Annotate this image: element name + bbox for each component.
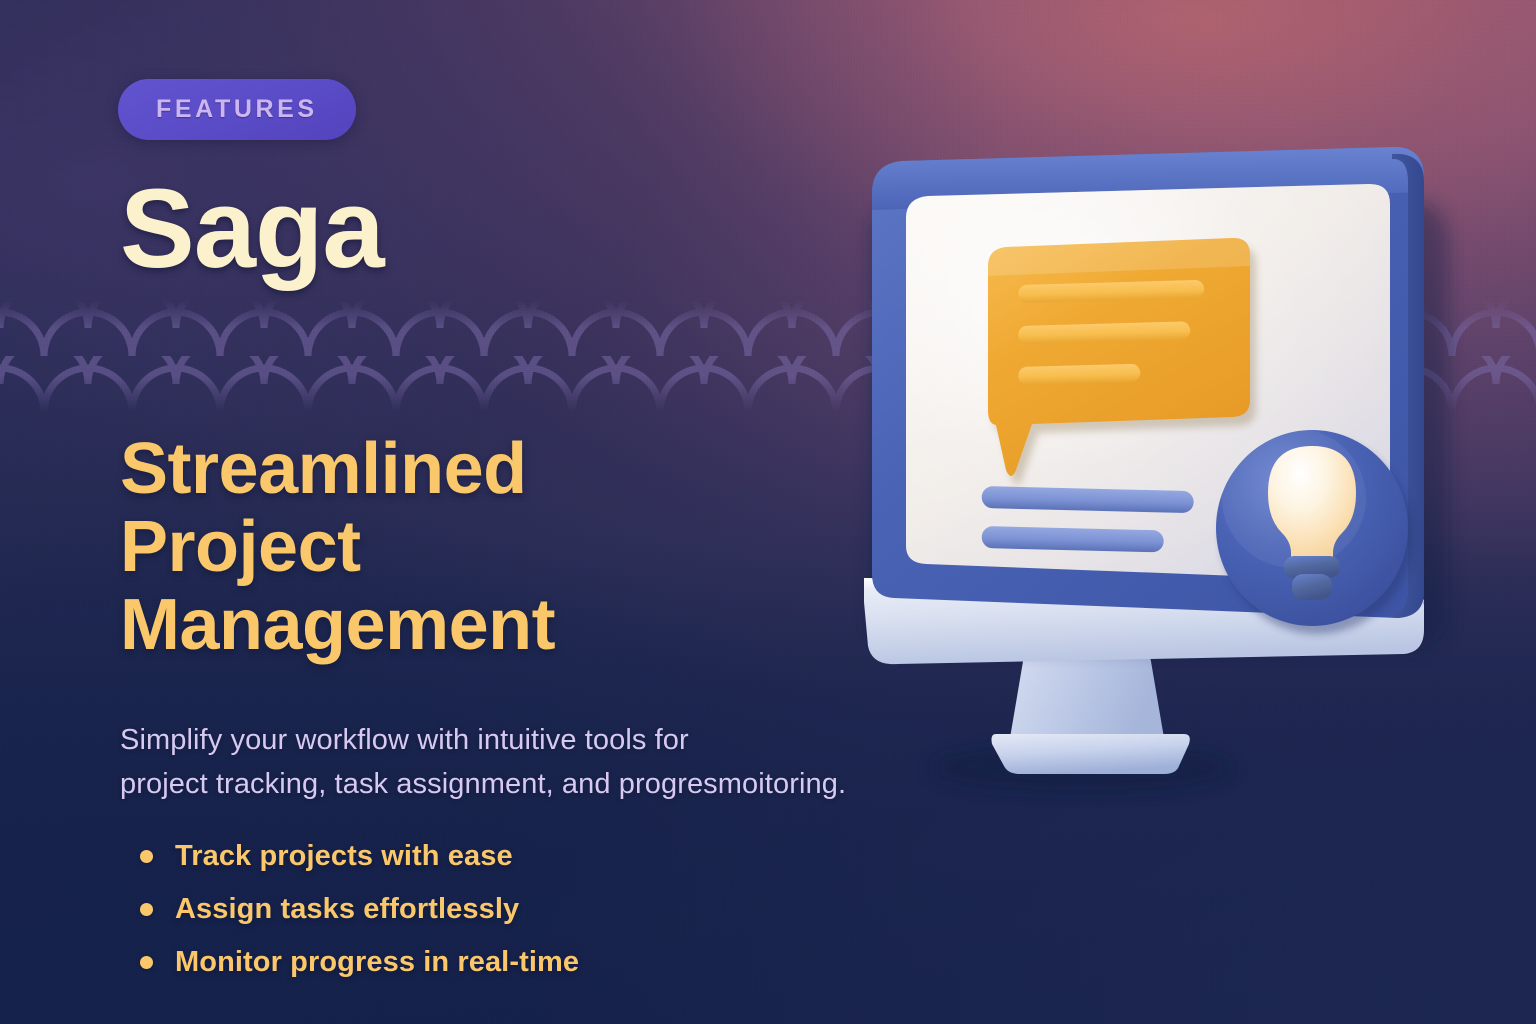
feature-label: Track projects with ease [175,840,513,873]
subtitle-line-2: project tracking, task assignment, and p… [120,762,846,806]
feature-list: Track projects with ease Assign tasks ef… [120,830,579,989]
feature-label: Monitor progress in real-time [175,946,579,979]
lightbulb-base-screw [1292,574,1332,600]
bullet-dot-icon [140,850,153,863]
screen-text-line-2 [981,526,1163,552]
monitor-illustration [846,140,1486,820]
bullet-dot-icon [140,903,153,916]
features-badge-label: FEATURES [156,95,318,124]
headline-line-1: Streamlined [120,431,555,509]
subtitle: Simplify your workflow with intuitive to… [120,718,846,806]
list-item: Track projects with ease [120,830,579,883]
headline-line-2: Project [120,509,555,587]
subtitle-line-1: Simplify your workflow with intuitive to… [120,718,846,762]
list-item: Monitor progress in real-time [120,936,579,989]
headline-line-3: Management [120,587,555,665]
bullet-dot-icon [140,956,153,969]
speech-bubble-text-line-3 [1018,364,1140,385]
headline: Streamlined Project Management [120,431,555,664]
list-item: Assign tasks effortlessly [120,883,579,936]
feature-label: Assign tasks effortlessly [175,893,519,926]
promo-banner: FEATURES Saga Streamlined Project Manage… [0,0,1536,1024]
monitor-stand-base [992,734,1190,774]
features-badge: FEATURES [118,79,356,140]
brand-title: Saga [120,169,384,290]
